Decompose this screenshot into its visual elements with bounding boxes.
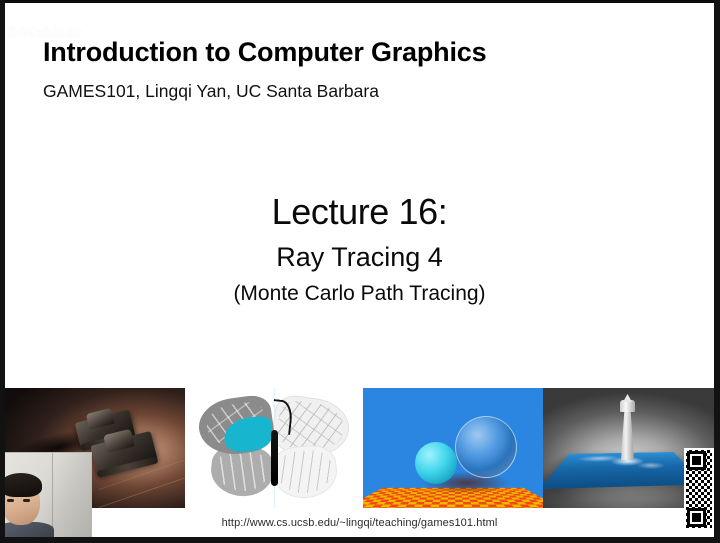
video-frame: 3-Webinar Introduction to Computer Graph…	[0, 0, 720, 543]
cyan-sphere	[415, 442, 457, 484]
frame-bezel-right	[714, 0, 720, 543]
floor-line	[98, 472, 185, 508]
qr-finder-bottom-left	[687, 508, 706, 527]
course-url[interactable]: http://www.cs.ucsb.edu/~lingqi/teaching/…	[222, 517, 498, 529]
qr-finder-top-left	[687, 451, 706, 470]
qr-grid	[686, 450, 712, 528]
lecture-block: Lecture 16: Ray Tracing 4 (Monte Carlo P…	[5, 189, 714, 309]
image-strip	[5, 388, 714, 508]
lighthouse-tower	[621, 410, 634, 460]
lecture-parenthetical: (Monte Carlo Path Tracing)	[5, 279, 714, 309]
tank-turret	[86, 408, 115, 429]
lecture-topic: Ray Tracing 4	[5, 239, 714, 275]
slide-canvas: 3-Webinar Introduction to Computer Graph…	[5, 3, 714, 537]
butterfly-wing-left-upper	[195, 393, 276, 459]
course-title: Introduction to Computer Graphics	[43, 35, 486, 69]
thumbnail-butterfly-render	[185, 388, 363, 508]
presenter-eye-left	[7, 499, 14, 502]
url-bar: http://www.cs.ucsb.edu/~lingqi/teaching/…	[5, 508, 714, 537]
presenter-hair	[0, 473, 42, 497]
frame-bezel-left	[0, 0, 5, 543]
lighthouse-cap	[623, 394, 632, 402]
frame-bezel-bottom	[0, 537, 720, 543]
butterfly-wing-right-lower	[270, 443, 339, 501]
lecture-number: Lecture 16:	[5, 189, 714, 235]
qr-code[interactable]	[684, 448, 714, 530]
frame-bezel-top	[0, 0, 720, 3]
glass-sphere	[455, 416, 517, 478]
course-subtitle: GAMES101, Lingqi Yan, UC Santa Barbara	[43, 78, 486, 104]
butterfly-body	[271, 430, 278, 486]
thumbnail-whitted-spheres-render	[363, 388, 543, 508]
slide-header: Introduction to Computer Graphics GAMES1…	[43, 35, 486, 104]
tank-track	[97, 456, 159, 478]
presenter-webcam[interactable]	[0, 452, 92, 543]
presenter-eye-right	[23, 499, 30, 502]
